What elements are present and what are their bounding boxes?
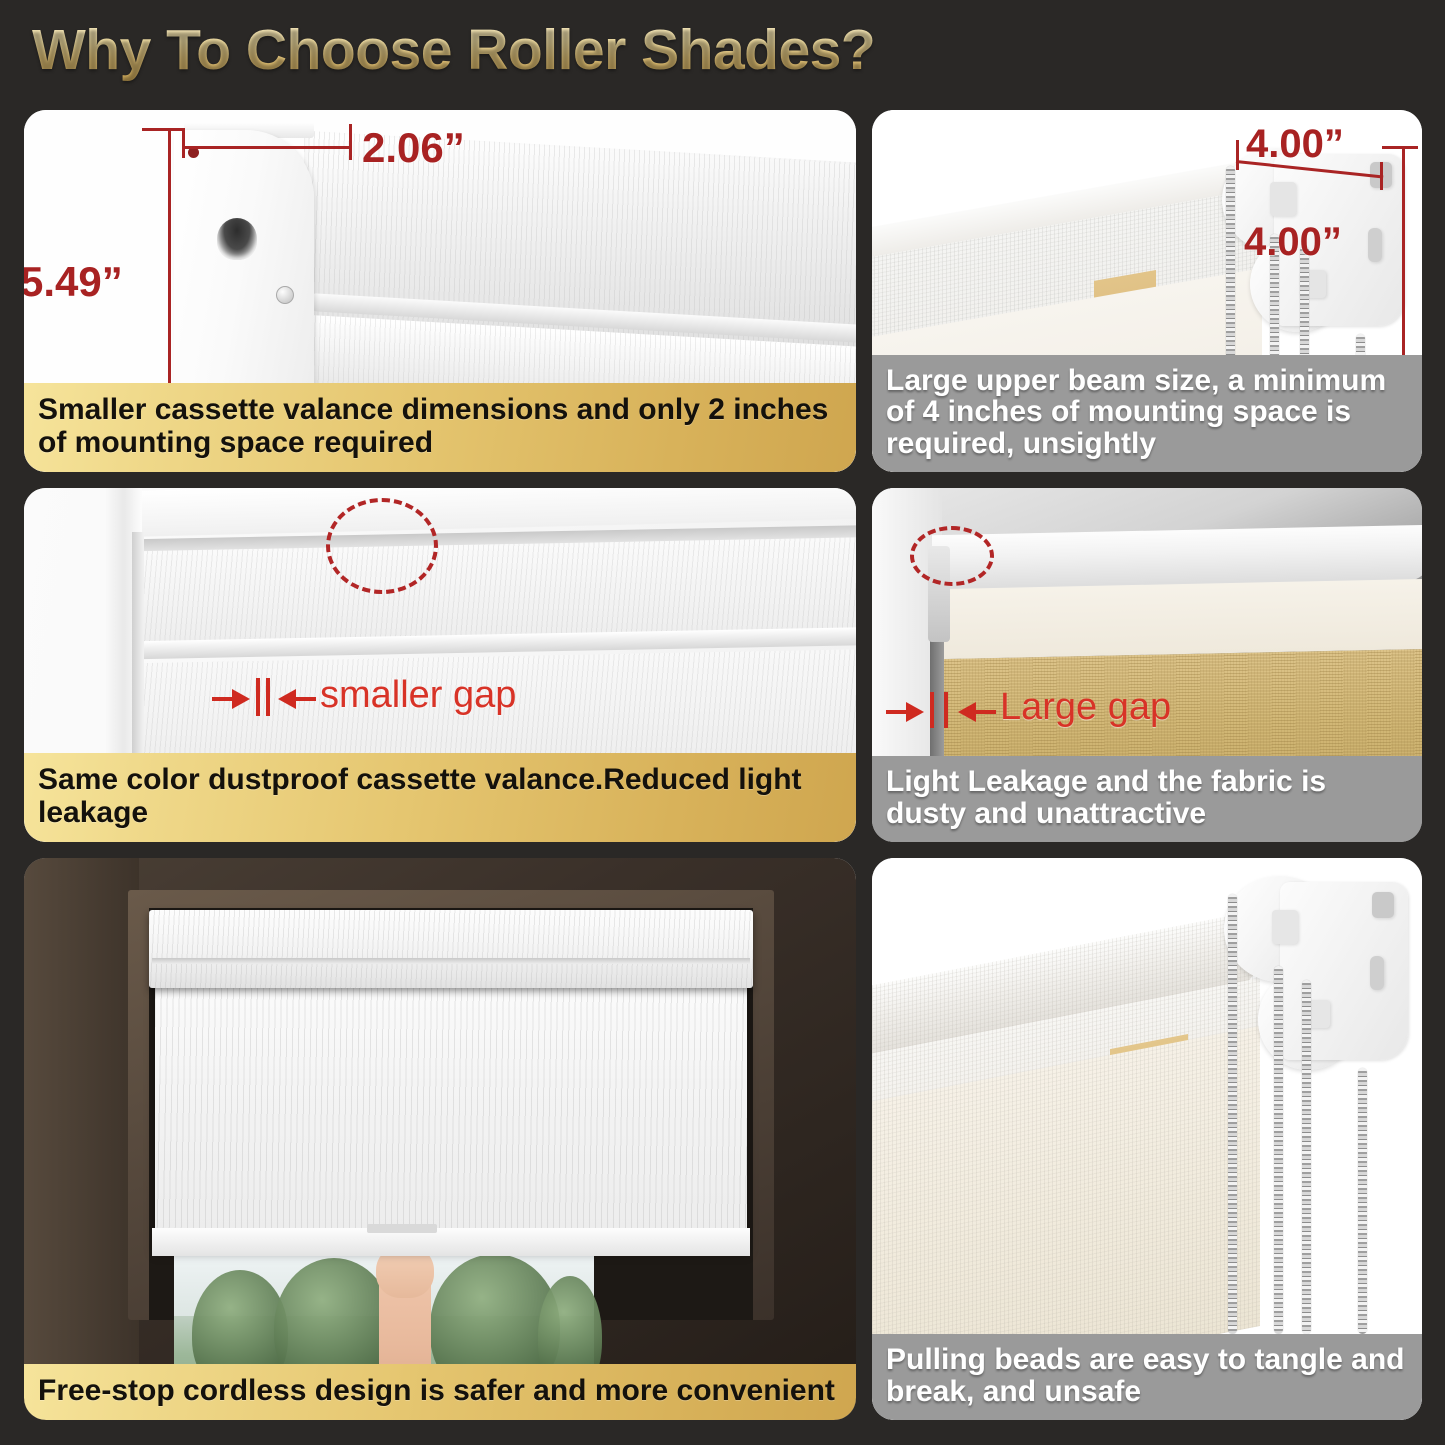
gap-label-smaller: smaller gap	[320, 674, 516, 717]
dimension-label-width-2: 4.00”	[1246, 122, 1344, 167]
bead-chain-1	[1228, 894, 1237, 1334]
bracket-slot-bottom	[1368, 228, 1382, 262]
shade-bottom-rail-5	[152, 1228, 750, 1256]
bead-chain-4	[1358, 1068, 1367, 1334]
dim-tick-left-top	[182, 128, 185, 158]
gap-arrow-stem-right-4	[976, 710, 996, 714]
panel-pulling-beads: Pulling beads are easy to tangle and bre…	[872, 858, 1422, 1420]
panel-large-beam: 4.00” 4.00” Large upper beam size, a min…	[872, 110, 1422, 472]
panel-4-caption: Light Leakage and the fabric is dusty an…	[872, 756, 1422, 842]
panel-2-caption-text: Large upper beam size, a minimum of 4 in…	[886, 364, 1386, 461]
gap-arrow-right-icon-4	[906, 702, 924, 722]
dim-tick-right-2	[1380, 162, 1383, 190]
panel-1-caption: Smaller cassette valance dimensions and …	[24, 383, 856, 472]
gap-label-large: Large gap	[1000, 686, 1171, 729]
bead-chain-2	[1274, 966, 1283, 1334]
panel-6-caption: Pulling beads are easy to tangle and bre…	[872, 1334, 1422, 1420]
panel-cordless-design: Free-stop cordless design is safer and m…	[24, 858, 856, 1420]
dim-tick-left-2	[1236, 140, 1239, 170]
dim-tick-top	[142, 128, 184, 131]
dimension-label-width: 2.06”	[362, 124, 465, 172]
panel-3-caption: Same color dustproof cassette valance.Re…	[24, 753, 856, 842]
gap-tick-a-4	[930, 692, 934, 728]
valance-seam-5	[152, 958, 750, 964]
panel-4-caption-text: Light Leakage and the fabric is dusty an…	[886, 765, 1326, 830]
panel-5-caption: Free-stop cordless design is safer and m…	[24, 1364, 856, 1420]
panel-3-caption-text: Same color dustproof cassette valance.Re…	[38, 763, 802, 830]
end-cap-slot	[217, 218, 257, 260]
panel-6-caption-text: Pulling beads are easy to tangle and bre…	[886, 1343, 1404, 1408]
bracket-slot-bottom-6	[1370, 956, 1384, 990]
gap-tick-b-4	[944, 692, 948, 728]
gap-arrow-stem-left-4	[886, 710, 908, 714]
bracket-slot-top-6	[1372, 892, 1394, 918]
panel-smaller-cassette: 2.06” 5.49” Smaller cassette valance dim…	[24, 110, 856, 472]
gap-tick-b	[266, 678, 270, 716]
roller-shade-5	[155, 984, 747, 1249]
dim-tick-right-top	[349, 124, 352, 160]
bracket-emblem-top-6	[1272, 910, 1298, 944]
dim-tick-top-2	[1382, 146, 1418, 149]
panel-2-caption: Large upper beam size, a minimum of 4 in…	[872, 355, 1422, 472]
panel-5-image	[24, 858, 856, 1420]
gap-arrow-stem-left	[212, 697, 234, 701]
header: Why To Choose Roller Shades?	[0, 0, 1445, 100]
highlight-circle-icon-4	[910, 526, 994, 586]
panel-5-caption-text: Free-stop cordless design is safer and m…	[38, 1374, 835, 1407]
room-wall-left	[24, 858, 139, 1420]
shade-pull-tab	[367, 1224, 437, 1233]
panel-light-leakage: Large gap Light Leakage and the fabric i…	[872, 488, 1422, 842]
end-cap-screw	[276, 286, 294, 304]
gap-arrow-stem-right	[296, 697, 316, 701]
highlight-circle-icon	[326, 498, 438, 594]
dimension-label-height-2: 4.00”	[1244, 220, 1342, 265]
bracket-arrow-emblem-top	[1270, 182, 1296, 216]
page-title: Why To Choose Roller Shades?	[32, 17, 875, 83]
panel-1-caption-text: Smaller cassette valance dimensions and …	[38, 393, 828, 460]
cassette-valance-5	[149, 910, 753, 988]
gap-arrow-left-icon	[278, 689, 296, 709]
gap-arrow-left-icon-4	[958, 702, 976, 722]
dim-line-width	[182, 146, 352, 149]
shade-fabric-upper	[142, 537, 856, 643]
infographic-root: Why To Choose Roller Shades? 2.06” 5	[0, 0, 1445, 1445]
gap-arrow-right-icon	[232, 689, 250, 709]
dim-line-height-2	[1402, 146, 1405, 376]
bead-chain-3	[1302, 980, 1311, 1334]
shade-white-band-4	[932, 579, 1422, 659]
gap-tick-a	[256, 678, 260, 716]
panel-dustproof-cassette: smaller gap Same color dustproof cassett…	[24, 488, 856, 842]
dimension-label-height: 5.49”	[24, 258, 123, 306]
